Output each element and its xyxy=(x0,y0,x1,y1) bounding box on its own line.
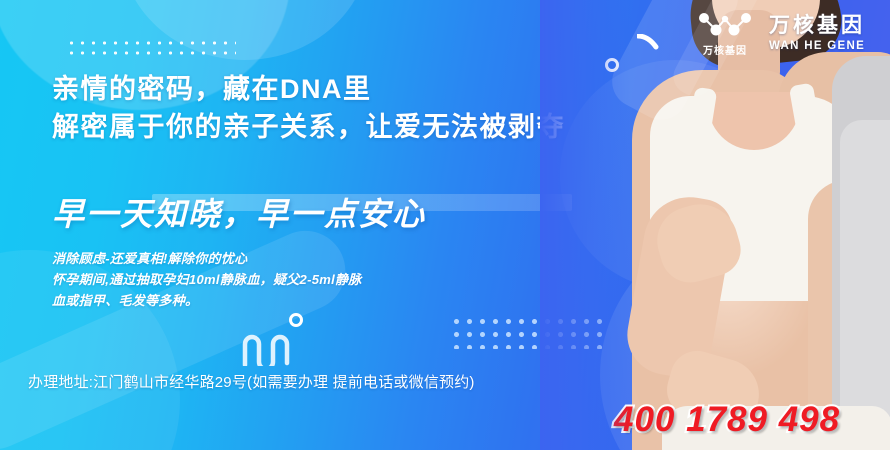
address-text: 办理地址:江门鹤山市经华路29号(如需要办理 提前电话或微信预约) xyxy=(28,371,475,392)
headline-line-2: 解密属于你的亲子关系，让爱无法被剥夺 xyxy=(52,108,565,146)
decor-blob-top-left-2 xyxy=(120,0,370,60)
slogan-text: 早一天知晓，早一点安心 xyxy=(52,189,426,235)
brand-name-en: WAN HE GENE xyxy=(769,41,865,53)
sub-copy-line-2: 怀孕期间,通过抽取孕妇10ml静脉血，疑父2-5ml静脉 xyxy=(52,269,362,290)
phone-number[interactable]: 400 1789 498 xyxy=(614,400,840,440)
brand-name-cn: 万核基因 xyxy=(769,15,865,36)
headline-line-1: 亲情的密码，藏在DNA里 xyxy=(52,70,565,108)
headline: 亲情的密码，藏在DNA里 解密属于你的亲子关系，让爱无法被剥夺 xyxy=(52,70,565,146)
photo-cardigan-inner xyxy=(840,120,890,450)
logo-mark-label: 万核基因 xyxy=(703,42,747,57)
pregnant-woman-photo xyxy=(540,0,890,450)
brand-wordmark: 万核基因 WAN HE GENE xyxy=(769,15,865,53)
brand-logo: 万核基因 万核基因 WAN HE GENE xyxy=(693,10,865,58)
sub-copy: 消除顾虑-还爱真相!解除你的忧心 怀孕期间,通过抽取孕妇10ml静脉血，疑父2-… xyxy=(52,248,362,311)
photo-edge-fade xyxy=(540,0,630,450)
dot-grid-top-icon xyxy=(66,38,236,56)
sub-copy-line-3: 血或指甲、毛发等多种。 xyxy=(52,290,362,311)
ring-circle-icon xyxy=(289,313,303,327)
molecule-node-icon: 万核基因 xyxy=(693,10,757,58)
wave-squiggle-icon xyxy=(242,332,296,366)
sub-copy-line-1: 消除顾虑-还爱真相!解除你的忧心 xyxy=(52,248,362,269)
promo-banner: 万核基因 万核基因 WAN HE GENE 亲情的密码，藏在DNA里 解密属于你… xyxy=(0,0,890,450)
